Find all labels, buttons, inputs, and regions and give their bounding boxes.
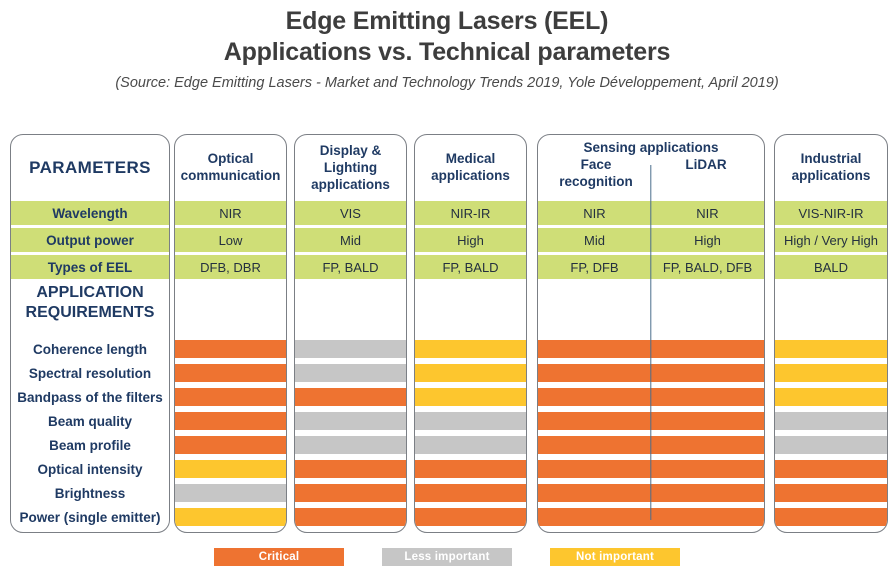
rating-bar-sensing-lidar-3 [651, 412, 764, 430]
rating-bar-display-lighting-2 [295, 388, 406, 406]
requirement-label-5: Optical intensity [11, 460, 169, 478]
rating-bar-sensing-lidar-0 [651, 340, 764, 358]
rating-bar-industrial-1 [775, 364, 887, 382]
panel-optical-communication: OpticalcommunicationNIRLowDFB, DBR [174, 134, 287, 533]
column-header-line-1: recognition [541, 173, 651, 190]
rating-bar-industrial-4 [775, 436, 887, 454]
rating-bar-optical-communication-7 [175, 508, 286, 526]
rating-bar-industrial-0 [775, 340, 887, 358]
title-block: Edge Emitting Lasers (EEL) Applications … [0, 0, 894, 95]
rating-bar-medical-3 [415, 412, 526, 430]
rating-bar-optical-communication-2 [175, 388, 286, 406]
spec-value-display-lighting-0: VIS [295, 201, 406, 225]
rating-bar-display-lighting-4 [295, 436, 406, 454]
panel-industrial: IndustrialapplicationsVIS-NIR-IRHigh / V… [774, 134, 888, 533]
rating-bar-optical-communication-6 [175, 484, 286, 502]
rating-bar-display-lighting-0 [295, 340, 406, 358]
rating-bar-sensing-lidar-7 [651, 508, 764, 526]
spec-value-medical-2: FP, BALD [415, 255, 526, 279]
panel-medical: MedicalapplicationsNIR-IRHighFP, BALD [414, 134, 527, 533]
column-header-medical: Medicalapplications [415, 135, 526, 199]
column-header-line-0: LiDAR [651, 156, 761, 173]
column-header-line-0: Optical [208, 150, 254, 167]
column-header-industrial: Industrialapplications [775, 135, 887, 199]
requirement-label-4: Beam profile [11, 436, 169, 454]
column-header-line-1: communication [181, 167, 281, 184]
spec-row-label-1: Output power [11, 228, 169, 252]
application-requirements-heading: APPLICATIONREQUIREMENTS [11, 283, 169, 323]
rating-bar-sensing-lidar-5 [651, 460, 764, 478]
rating-bar-industrial-5 [775, 460, 887, 478]
rating-bar-medical-6 [415, 484, 526, 502]
column-header-line-0: Display & [320, 142, 382, 159]
spec-value-optical-communication-2: DFB, DBR [175, 255, 286, 279]
rating-bar-optical-communication-0 [175, 340, 286, 358]
spec-value-sensing-lidar-0: NIR [651, 201, 764, 225]
application-requirements-heading-line-1: APPLICATION [11, 283, 169, 303]
rating-bar-sensing-face-recognition-2 [538, 388, 651, 406]
rating-bar-sensing-lidar-4 [651, 436, 764, 454]
column-header-line-0: Industrial [801, 150, 862, 167]
column-header-line-1: applications [431, 167, 510, 184]
rating-bar-display-lighting-5 [295, 460, 406, 478]
requirement-label-7: Power (single emitter) [11, 508, 169, 526]
application-requirements-heading-line-2: REQUIREMENTS [11, 303, 169, 323]
rating-bar-sensing-face-recognition-7 [538, 508, 651, 526]
requirement-label-0: Coherence length [11, 340, 169, 358]
rating-bar-display-lighting-1 [295, 364, 406, 382]
spec-value-display-lighting-1: Mid [295, 228, 406, 252]
rating-bar-sensing-face-recognition-6 [538, 484, 651, 502]
rating-bar-optical-communication-1 [175, 364, 286, 382]
spec-value-optical-communication-0: NIR [175, 201, 286, 225]
rating-bar-medical-0 [415, 340, 526, 358]
spec-value-industrial-1: High / Very High [775, 228, 887, 252]
rating-bar-industrial-6 [775, 484, 887, 502]
spec-value-sensing-face-recognition-2: FP, DFB [538, 255, 651, 279]
page-title-line-1: Edge Emitting Lasers (EEL) [0, 0, 894, 37]
panel-parameters: PARAMETERSWavelengthOutput powerTypes of… [10, 134, 170, 533]
spec-value-sensing-lidar-1: High [651, 228, 764, 252]
rating-bar-medical-1 [415, 364, 526, 382]
spec-value-optical-communication-1: Low [175, 228, 286, 252]
legend: CriticalLess importantNot important [0, 548, 894, 566]
rating-bar-sensing-face-recognition-3 [538, 412, 651, 430]
requirement-label-6: Brightness [11, 484, 169, 502]
column-header-parameters: PARAMETERS [11, 135, 169, 199]
spec-value-sensing-lidar-2: FP, BALD, DFB [651, 255, 764, 279]
column-header-sensing-face-recognition: Facerecognition [541, 156, 651, 190]
legend-item-lessimportant: Less important [382, 548, 512, 566]
spec-value-sensing-face-recognition-0: NIR [538, 201, 651, 225]
requirement-label-3: Beam quality [11, 412, 169, 430]
rating-bar-sensing-face-recognition-0 [538, 340, 651, 358]
rating-bar-sensing-lidar-1 [651, 364, 764, 382]
rating-bar-optical-communication-3 [175, 412, 286, 430]
column-header-sensing-lidar: LiDAR [651, 156, 761, 190]
requirement-label-2: Bandpass of the filters [11, 388, 169, 406]
rating-bar-medical-4 [415, 436, 526, 454]
rating-bar-display-lighting-3 [295, 412, 406, 430]
panel-sensing-applications: Sensing applicationsFacerecognitionLiDAR… [537, 134, 765, 533]
rating-bar-sensing-lidar-2 [651, 388, 764, 406]
rating-bar-industrial-2 [775, 388, 887, 406]
page-title-line-2: Applications vs. Technical parameters [0, 37, 894, 68]
rating-bar-sensing-lidar-6 [651, 484, 764, 502]
rating-bar-sensing-face-recognition-5 [538, 460, 651, 478]
spec-value-industrial-2: BALD [775, 255, 887, 279]
rating-bar-industrial-7 [775, 508, 887, 526]
spec-value-display-lighting-2: FP, BALD [295, 255, 406, 279]
column-group-label-sensing: Sensing applications [583, 139, 718, 156]
spec-row-label-2: Types of EEL [11, 255, 169, 279]
rating-bar-optical-communication-5 [175, 460, 286, 478]
sensing-column-divider [650, 165, 651, 520]
requirement-label-1: Spectral resolution [11, 364, 169, 382]
rating-bar-medical-5 [415, 460, 526, 478]
spec-value-sensing-face-recognition-1: Mid [538, 228, 651, 252]
rating-bar-display-lighting-7 [295, 508, 406, 526]
legend-item-critical: Critical [214, 548, 344, 566]
rating-bar-optical-communication-4 [175, 436, 286, 454]
rating-bar-sensing-face-recognition-4 [538, 436, 651, 454]
rating-bar-display-lighting-6 [295, 484, 406, 502]
spec-value-medical-0: NIR-IR [415, 201, 526, 225]
column-header-line-1: applications [792, 167, 871, 184]
legend-item-notimportant: Not important [550, 548, 680, 566]
column-header-line-0: Face [541, 156, 651, 173]
column-header-line-1: Lighting [324, 159, 377, 176]
panel-display-lighting: Display &LightingapplicationsVISMidFP, B… [294, 134, 407, 533]
spec-value-industrial-0: VIS-NIR-IR [775, 201, 887, 225]
column-header-line-0: Medical [446, 150, 496, 167]
column-header-optical-communication: Opticalcommunication [175, 135, 286, 199]
rating-bar-sensing-face-recognition-1 [538, 364, 651, 382]
rating-bar-medical-7 [415, 508, 526, 526]
comparison-table: PARAMETERSWavelengthOutput powerTypes of… [0, 134, 894, 536]
spec-value-medical-1: High [415, 228, 526, 252]
column-header-display-lighting: Display &Lightingapplications [295, 135, 406, 199]
spec-row-label-0: Wavelength [11, 201, 169, 225]
rating-bar-medical-2 [415, 388, 526, 406]
column-header-line-2: applications [311, 176, 390, 193]
source-citation: (Source: Edge Emitting Lasers - Market a… [0, 68, 894, 95]
rating-bar-industrial-3 [775, 412, 887, 430]
